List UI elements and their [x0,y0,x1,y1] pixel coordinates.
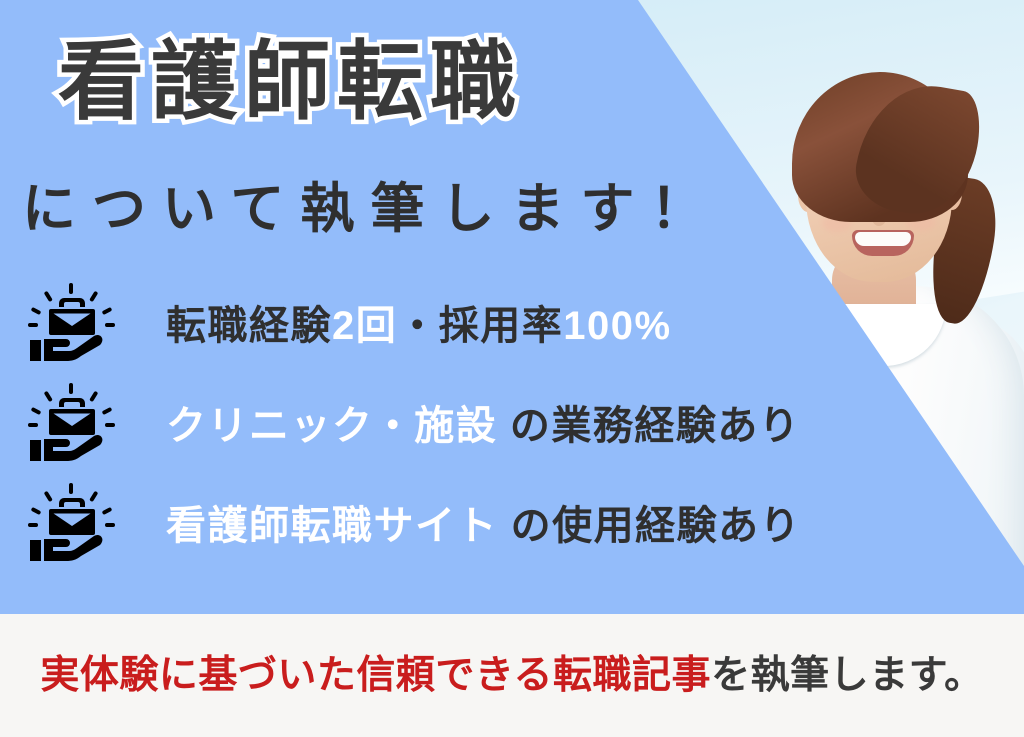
nurse-teeth [855,232,911,246]
page-subtitle: について執筆します！ [22,164,720,243]
bullet-part-2: の使用経験あり [498,504,801,548]
bullet-part-1: 転職経験 [166,304,332,348]
list-item: 転職経験2回・採用率100% [0,272,880,372]
bullet-text: 看護師転職サイト の使用経験あり [166,493,801,551]
bullet-part-1: クリニック・施設 [166,404,497,448]
bullet-part-1: 看護師転職サイト [166,504,498,548]
page-title: 看護師転職 [58,34,523,130]
hand-holding-briefcase-icon [26,482,118,562]
bullet-text: クリニック・施設 の業務経験あり [166,393,800,451]
bullet-part-3: ・採用率 [397,304,563,348]
footer-red-text: 実体験に基づいた信頼できる転職記事 [40,654,711,697]
bullet-text: 転職経験2回・採用率100% [166,293,672,351]
hand-holding-briefcase-icon [26,382,118,462]
bullet-part-4: 100% [563,304,671,348]
bullet-part-2: の業務経験あり [497,404,800,448]
list-item: クリニック・施設 の業務経験あり [0,372,880,472]
footer-strip: 実体験に基づいた信頼できる転職記事を執筆します。 [0,614,1024,737]
footer-dark-text: を執筆します。 [711,654,984,697]
hand-holding-briefcase-icon [26,282,118,362]
nurse-career-banner: 看護師転職 について執筆します！ [0,0,1024,737]
nurse-mouth [852,230,914,256]
list-item: 看護師転職サイト の使用経験あり [0,472,880,572]
bullet-list: 転職経験2回・採用率100% [0,272,880,572]
footer-text: 実体験に基づいた信頼できる転職記事を執筆します。 [0,644,1024,700]
bullet-part-2: 2回 [332,304,397,348]
